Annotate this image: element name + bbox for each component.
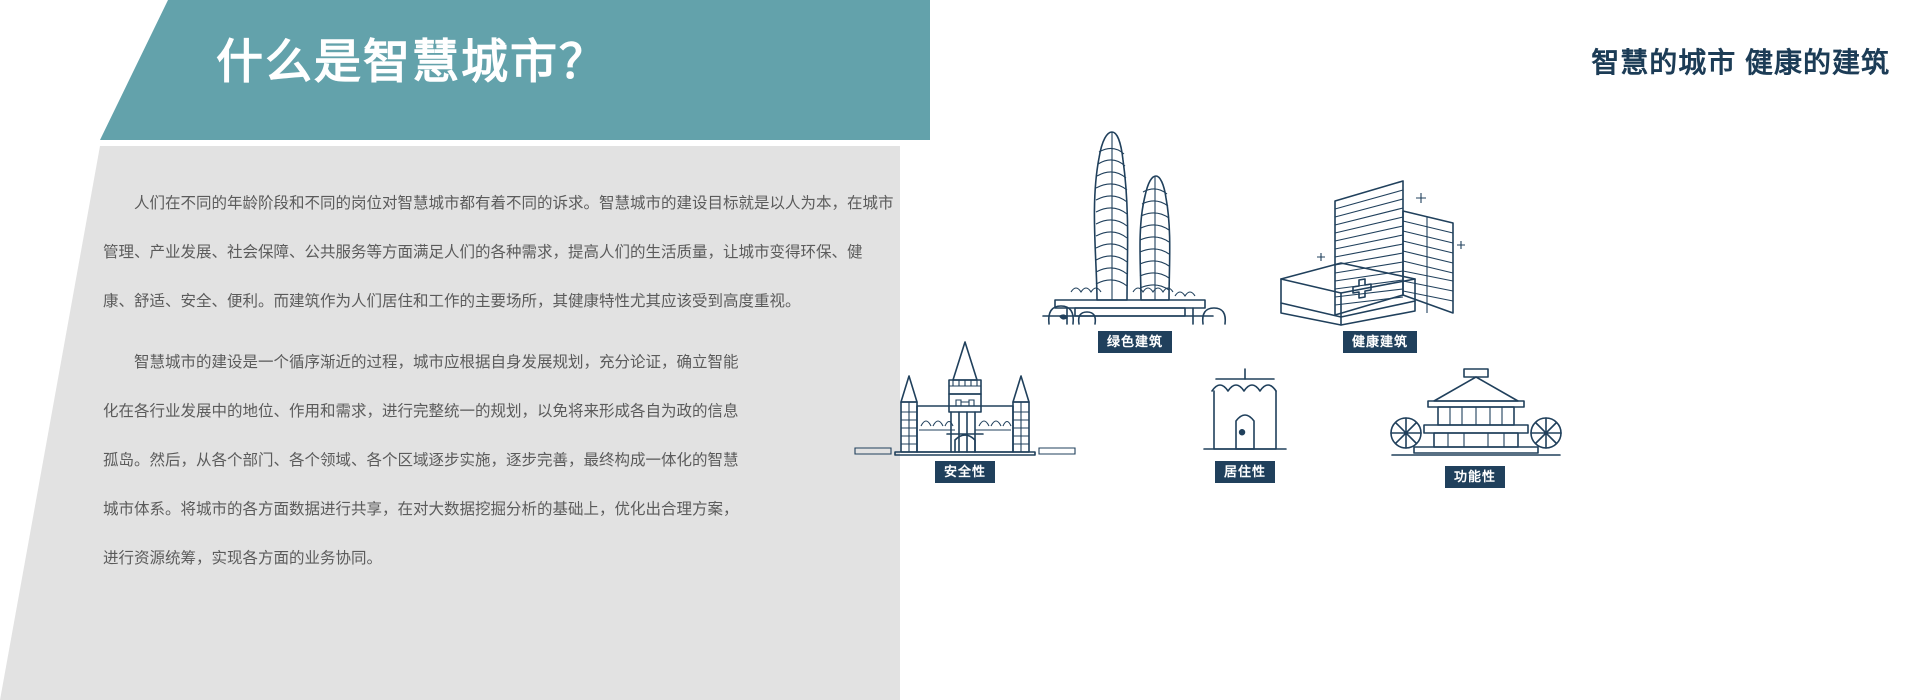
header-tagline: 智慧的城市 健康的建筑: [1591, 41, 1890, 81]
paragraph-1-line-1: 人们在不同的年龄阶段和不同的岗位对智慧城市都有着不同的诉求。智慧城市的建设目标就…: [103, 179, 894, 228]
illustration-item-living: 居住性: [1150, 365, 1340, 483]
house-tent-icon: [1190, 365, 1300, 455]
illustration-group: 绿色建筑: [820, 90, 1920, 610]
twin-towers-icon: [1035, 110, 1235, 325]
paragraph-1-line-3: 康、舒适、安全、便利。而建筑作为人们居住和工作的主要场所，其健康特性尤其应该受到…: [103, 277, 894, 326]
paragraph-2-line-2: 化在各行业发展中的地位、作用和需求，进行完整统一的规划，以免将来形成各自为政的信…: [103, 387, 739, 436]
illustration-item-safety: 安全性: [820, 340, 1110, 483]
paragraph-2-line-1: 智慧城市的建设是一个循序渐近的过程，城市应根据自身发展规划，充分论证，确立智能: [103, 338, 739, 387]
illustration-item-green-building: 绿色建筑: [1015, 110, 1255, 353]
illustration-label-function: 功能性: [1445, 466, 1505, 488]
paragraph-2: 智慧城市的建设是一个循序渐近的过程，城市应根据自身发展规划，充分论证，确立智能 …: [103, 338, 739, 583]
illustration-item-health-building: 健康建筑: [1250, 175, 1510, 353]
illustration-label-safety: 安全性: [935, 461, 995, 483]
illustration-item-function: 功能性: [1360, 365, 1590, 488]
illustration-label-health-building: 健康建筑: [1343, 331, 1417, 353]
page-title: 什么是智慧城市？: [216, 33, 608, 92]
paragraph-1: 人们在不同的年龄阶段和不同的岗位对智慧城市都有着不同的诉求。智慧城市的建设目标就…: [103, 179, 894, 326]
body-text-container: 人们在不同的年龄阶段和不同的岗位对智慧城市都有着不同的诉求。智慧城市的建设目标就…: [0, 146, 900, 700]
paragraph-1-line-2: 管理、产业发展、社会保障、公共服务等方面满足人们的各种需求，提高人们的生活质量，…: [103, 228, 894, 277]
illustration-label-living: 居住性: [1215, 461, 1275, 483]
paragraph-2-line-3: 孤岛。然后，从各个部门、各个领域、各个区域逐步实施，逐步完善，最终构成一体化的智…: [103, 436, 739, 485]
castle-icon: [835, 340, 1095, 455]
paragraph-2-line-4: 城市体系。将城市的各方面数据进行共享，在对大数据挖掘分析的基础上，优化出合理方案…: [103, 485, 739, 534]
pavilion-icon: [1388, 365, 1563, 460]
paragraph-2-line-5: 进行资源统筹，实现各方面的业务协同。: [103, 534, 739, 583]
hospital-building-icon: [1275, 175, 1485, 325]
